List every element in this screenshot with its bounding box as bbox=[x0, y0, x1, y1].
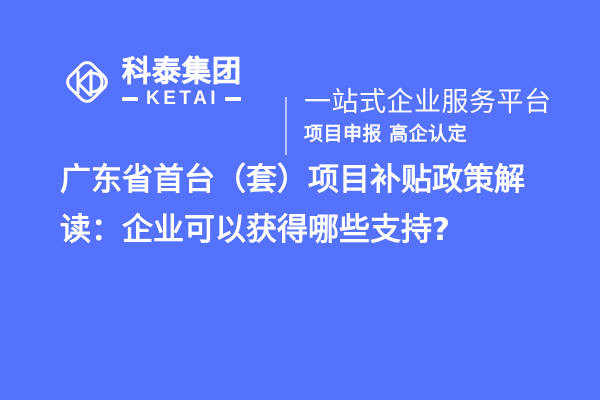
logo-wordmark: 科泰集团 KETAI bbox=[122, 56, 242, 109]
tagline-secondary: 项目申报 高企认定 bbox=[304, 122, 574, 147]
brand-divider bbox=[285, 97, 287, 155]
brand-header: 科泰集团 KETAI 一站式企业服务平台 项目申报 高企认定 bbox=[0, 42, 600, 122]
tagline-primary: 一站式企业服务平台 bbox=[304, 86, 574, 119]
logo-name-en: KETAI bbox=[138, 89, 225, 109]
company-logo[interactable]: 科泰集团 KETAI bbox=[58, 53, 242, 111]
page-title: 广东省首台（套）项目补贴政策解读：企业可以获得哪些支持? bbox=[60, 155, 556, 255]
tagline-block: 一站式企业服务平台 项目申报 高企认定 bbox=[304, 86, 574, 147]
ketai-diamond-monogram-icon bbox=[58, 53, 116, 111]
promo-banner: 科泰集团 KETAI 一站式企业服务平台 项目申报 高企认定 广东省首台（套）项… bbox=[0, 0, 600, 400]
dash-left-icon bbox=[122, 97, 138, 101]
dash-right-icon bbox=[225, 97, 241, 101]
logo-name-cn: 科泰集团 bbox=[122, 56, 242, 87]
logo-name-en-row: KETAI bbox=[122, 89, 242, 109]
